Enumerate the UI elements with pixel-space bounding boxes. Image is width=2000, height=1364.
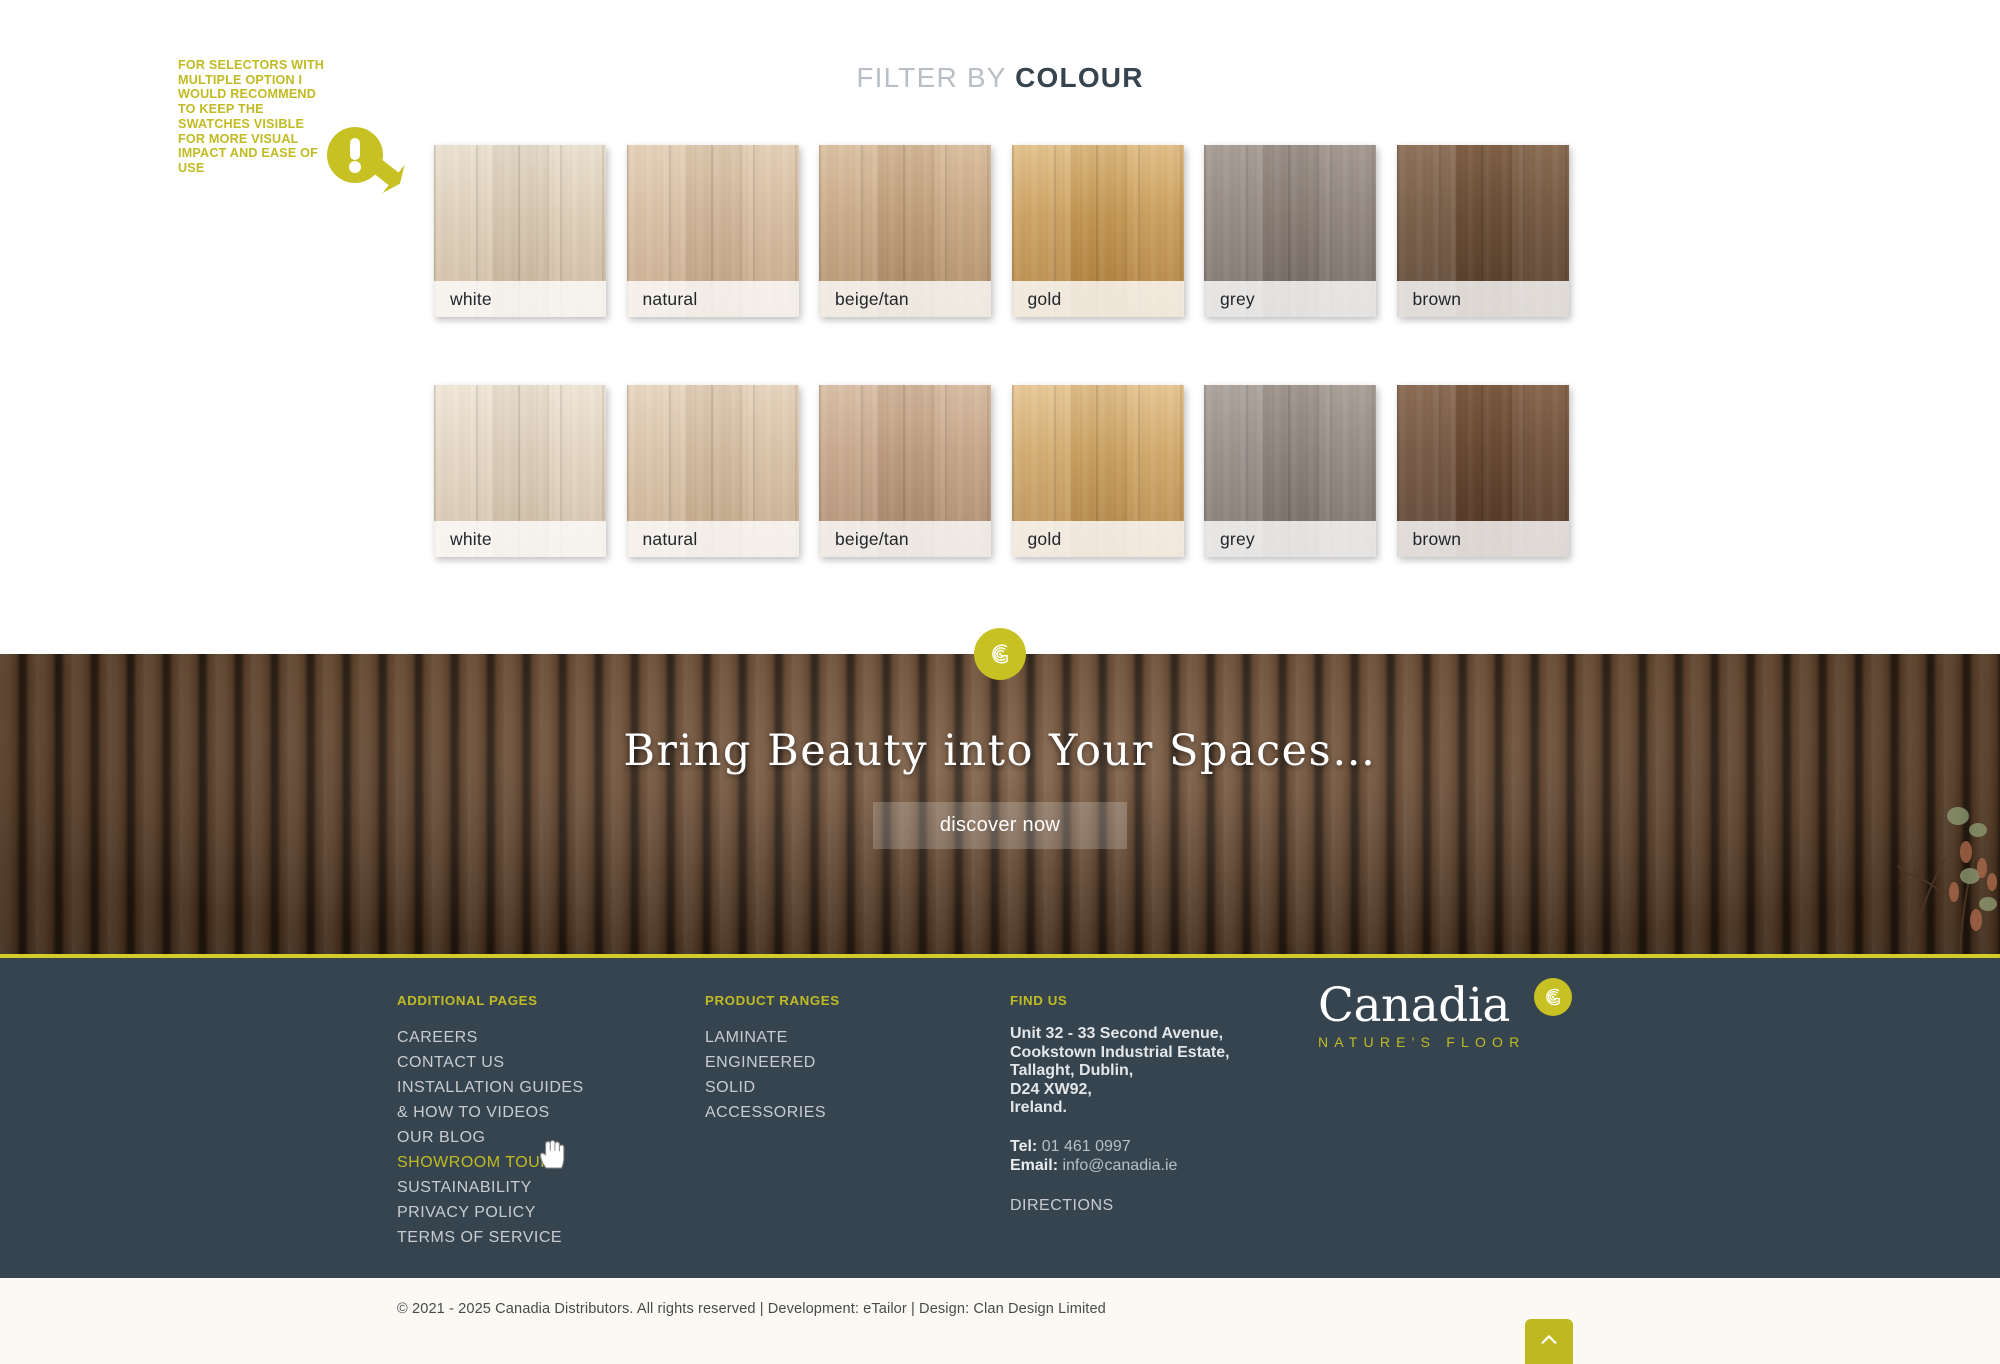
colour-swatch[interactable]: gold [1012,145,1184,317]
footer-link-list: LAMINATEENGINEEREDSOLIDACCESSORIES [705,1025,840,1125]
footer-link[interactable]: SOLID [705,1075,840,1100]
swatch-label: brown [1397,521,1569,557]
colour-swatch[interactable]: natural [627,145,799,317]
swatch-label: beige/tan [819,521,991,557]
tel-label: Tel: [1010,1138,1037,1155]
footer-column-find-us: FIND US Unit 32 - 33 Second Avenue,Cooks… [1010,993,1230,1215]
tel-value[interactable]: 01 461 0997 [1042,1138,1131,1155]
swatch-label: beige/tan [819,281,991,317]
page-title: FILTER BY COLOUR [0,62,2000,94]
footer-column-additional-pages: ADDITIONAL PAGES CAREERSCONTACT USINSTAL… [397,993,584,1250]
copyright-bar: © 2021 - 2025 Canadia Distributors. All … [0,1278,2000,1364]
hero-title: Bring Beauty into Your Spaces… [0,726,2000,776]
colour-swatch-grid: whitenaturalbeige/tangoldgreybrownwhiten… [434,145,1574,625]
brand-tagline: NATURE'S FLOOR [1318,1034,1578,1050]
colour-swatch[interactable]: white [434,385,606,557]
address-line: Unit 32 - 33 Second Avenue, [1010,1025,1230,1044]
footer-column-title: PRODUCT RANGES [705,993,840,1008]
canadia-tree-ring-icon [974,628,1026,680]
colour-swatch[interactable]: brown [1397,385,1569,557]
footer-link[interactable]: PRIVACY POLICY [397,1200,584,1225]
swatch-label: gold [1012,521,1184,557]
copyright-text: © 2021 - 2025 Canadia Distributors. All … [397,1301,1106,1317]
swatch-label: brown [1397,281,1569,317]
dried-flower-decor [1850,764,2000,954]
discover-now-button[interactable]: discover now [873,802,1127,849]
address-line: Ireland. [1010,1099,1230,1118]
colour-swatch[interactable]: grey [1204,145,1376,317]
email-value[interactable]: info@canadia.ie [1062,1157,1177,1174]
swatch-label: natural [627,281,799,317]
footer-column-product-ranges: PRODUCT RANGES LAMINATEENGINEEREDSOLIDAC… [705,993,840,1125]
footer-logo[interactable]: Canadia NATURE'S FLOOR [1318,980,1578,1050]
footer-link[interactable]: LAMINATE [705,1025,840,1050]
exclamation-arrow-icon [325,125,405,193]
colour-swatch[interactable]: natural [627,385,799,557]
colour-swatch[interactable]: beige/tan [819,385,991,557]
address-line: Tallaght, Dublin, [1010,1062,1230,1081]
address-block: Unit 32 - 33 Second Avenue,Cookstown Ind… [1010,1025,1230,1118]
page-root: FOR SELECTORS WITH MULTIPLE OPTION I WOU… [0,0,2000,1364]
swatch-label: gold [1012,281,1184,317]
colour-swatch[interactable]: brown [1397,145,1569,317]
footer-link[interactable]: CAREERS [397,1025,584,1050]
colour-swatch-row: whitenaturalbeige/tangoldgreybrown [434,385,1574,557]
filter-heading-bold: COLOUR [1015,62,1144,93]
footer-link[interactable]: CONTACT US [397,1050,584,1075]
colour-swatch[interactable]: gold [1012,385,1184,557]
footer-column-title: FIND US [1010,993,1230,1008]
swatch-label: white [434,521,606,557]
swatch-label: grey [1204,521,1376,557]
colour-swatch-row: whitenaturalbeige/tangoldgreybrown [434,145,1574,317]
footer-link[interactable]: SUSTAINABILITY [397,1175,584,1200]
colour-swatch[interactable]: beige/tan [819,145,991,317]
filter-heading-light: FILTER BY [856,62,1006,93]
swatch-label: natural [627,521,799,557]
footer-column-title: ADDITIONAL PAGES [397,993,584,1008]
footer-link[interactable]: TERMS OF SERVICE [397,1225,584,1250]
footer-link[interactable]: INSTALLATION GUIDES [397,1075,584,1100]
colour-swatch[interactable]: white [434,145,606,317]
pointing-hand-cursor [537,1137,567,1171]
address-line: Cookstown Industrial Estate, [1010,1044,1230,1063]
footer-link[interactable]: ACCESSORIES [705,1100,840,1125]
address-line: D24 XW92, [1010,1081,1230,1100]
contact-block: Tel: 01 461 0997 Email: info@canadia.ie [1010,1137,1230,1175]
chevron-up-icon [1538,1329,1560,1354]
swatch-label: grey [1204,281,1376,317]
footer-link[interactable]: ENGINEERED [705,1050,840,1075]
hero-banner: Bring Beauty into Your Spaces… discover … [0,654,2000,958]
email-row: Email: info@canadia.ie [1010,1156,1230,1175]
email-label: Email: [1010,1157,1058,1174]
scroll-to-top-button[interactable] [1525,1319,1573,1364]
site-footer: ADDITIONAL PAGES CAREERSCONTACT USINSTAL… [0,958,2000,1278]
tel-row: Tel: 01 461 0997 [1010,1137,1230,1156]
colour-swatch[interactable]: grey [1204,385,1376,557]
swatch-label: white [434,281,606,317]
directions-link[interactable]: DIRECTIONS [1010,1197,1230,1215]
canadia-tree-ring-icon [1534,978,1572,1016]
footer-link[interactable]: & HOW TO VIDEOS [397,1100,584,1125]
